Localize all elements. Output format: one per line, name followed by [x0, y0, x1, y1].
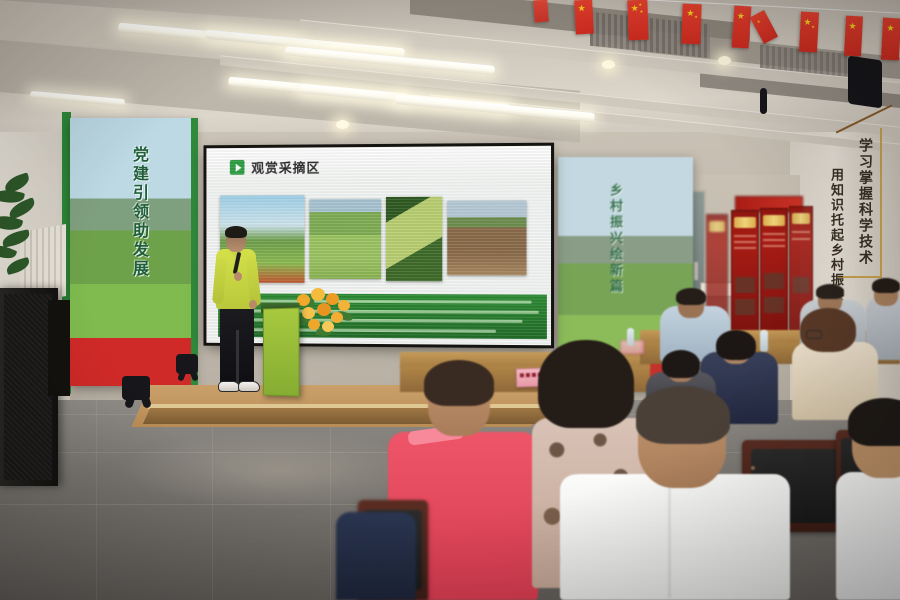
board-line [763, 245, 784, 247]
slide-photo [447, 201, 526, 276]
slide-photo [386, 197, 442, 281]
attendee-jeans [336, 512, 416, 600]
board-photo [764, 297, 784, 313]
chinese-national-flag: ★ [732, 5, 752, 48]
board-photo [764, 273, 784, 289]
presenter-hand [249, 300, 257, 309]
slide-title-row: 观赏采摘区 [230, 157, 320, 176]
chinese-national-flag: ★★ [681, 4, 701, 45]
board-header [709, 221, 726, 232]
led-presentation-screen[interactable]: 观赏采摘区 [206, 146, 551, 346]
presenter-hair [225, 226, 247, 238]
ceiling-spot-light [336, 120, 349, 129]
podium-sign: 启动仪式 [263, 307, 300, 396]
presenter-shoe [238, 381, 260, 392]
presenter-hand [234, 272, 242, 281]
chinese-national-flag: ★ [881, 18, 900, 61]
pa-speaker-cabinet [48, 300, 70, 396]
board-photo [735, 277, 755, 293]
chinese-national-flag: ★★ [799, 12, 819, 53]
board-header [792, 213, 810, 224]
exhibition-board [731, 210, 759, 332]
board-line [792, 238, 810, 240]
wall-slogan-line2: 用知识托起乡村振兴 [827, 168, 846, 303]
banner-right-text: 乡村振兴绘新篇 [606, 183, 625, 295]
presenter-shoe [218, 381, 240, 392]
chinese-national-flag: ★ [844, 16, 863, 57]
board-line [734, 247, 755, 249]
banner-left: 党建引领助发展 [70, 118, 195, 386]
board-line [734, 241, 755, 243]
board-line [734, 235, 755, 237]
slide-photo [309, 199, 381, 279]
board-header [734, 217, 756, 228]
chinese-national-flag: ★★★ [627, 0, 648, 40]
door-handle [694, 262, 698, 280]
presenter-leg-split [236, 330, 239, 386]
ceiling-speaker [848, 56, 882, 109]
board-line [763, 233, 784, 235]
exhibition-board [760, 208, 788, 332]
slide-photo-strip [220, 194, 545, 287]
play-triangle-icon [230, 160, 245, 175]
board-header [763, 215, 785, 226]
board-photo [793, 277, 810, 293]
shirt-seam [668, 478, 671, 598]
water-bottle [760, 330, 768, 352]
chinese-national-flag: ★ [574, 0, 594, 34]
chinese-national-flag [533, 0, 549, 22]
potted-plant [0, 176, 46, 282]
wall-slogan-line1: 学习掌握科学技术 [856, 138, 876, 266]
slide-title: 观赏采摘区 [251, 157, 320, 176]
water-bottle [627, 328, 634, 346]
wall-accent-line [880, 128, 882, 278]
board-line [792, 231, 810, 233]
conference-hall-scene: ★ ★★★ ★★ ★ ★ ★★ ★ ★ 学习掌握科学技术 用知识托起乡村振兴 党… [0, 0, 900, 600]
ceiling-fan-pole [760, 88, 767, 114]
flower-arrangement [293, 288, 355, 336]
board-line [763, 239, 784, 241]
eyeglasses [806, 330, 822, 339]
ceiling-spot-light [602, 60, 615, 69]
banner-left-text: 党建引领助发展 [126, 146, 150, 279]
ceiling-spot-light [718, 56, 731, 65]
stage-front-face [143, 408, 570, 424]
board-photo [735, 299, 755, 315]
banner-frame-right [191, 118, 198, 390]
